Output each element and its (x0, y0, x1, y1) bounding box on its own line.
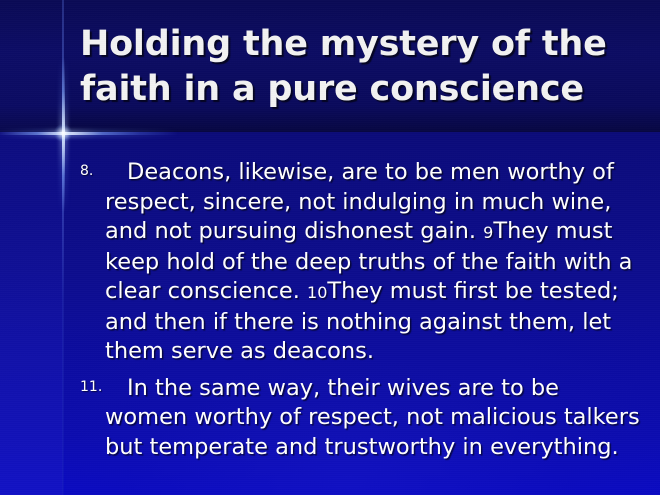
sparkle-core (54, 124, 72, 142)
sparkle-horizontal-ray (0, 132, 179, 135)
paragraph-number: 11. (80, 380, 102, 394)
body-paragraph: 8.Deacons, likewise, are to be men worth… (78, 158, 644, 367)
paragraph-text: Deacons, likewise, are to be men worthy … (105, 158, 644, 367)
presentation-slide: Holding the mystery of the faith in a pu… (0, 0, 660, 495)
slide-body: 8.Deacons, likewise, are to be men worth… (78, 158, 644, 462)
verse-number: 10 (307, 283, 327, 302)
paragraph-text: In the same way, their wives are to be w… (105, 374, 644, 463)
verse-number: 9 (483, 223, 493, 242)
paragraph-number: 8. (80, 164, 93, 178)
slide-title: Holding the mystery of the faith in a pu… (80, 22, 620, 112)
slide-left-accent-column (0, 0, 63, 495)
text-run: In the same way, their wives are to be w… (105, 375, 640, 460)
body-paragraph: 11.In the same way, their wives are to b… (78, 374, 644, 463)
